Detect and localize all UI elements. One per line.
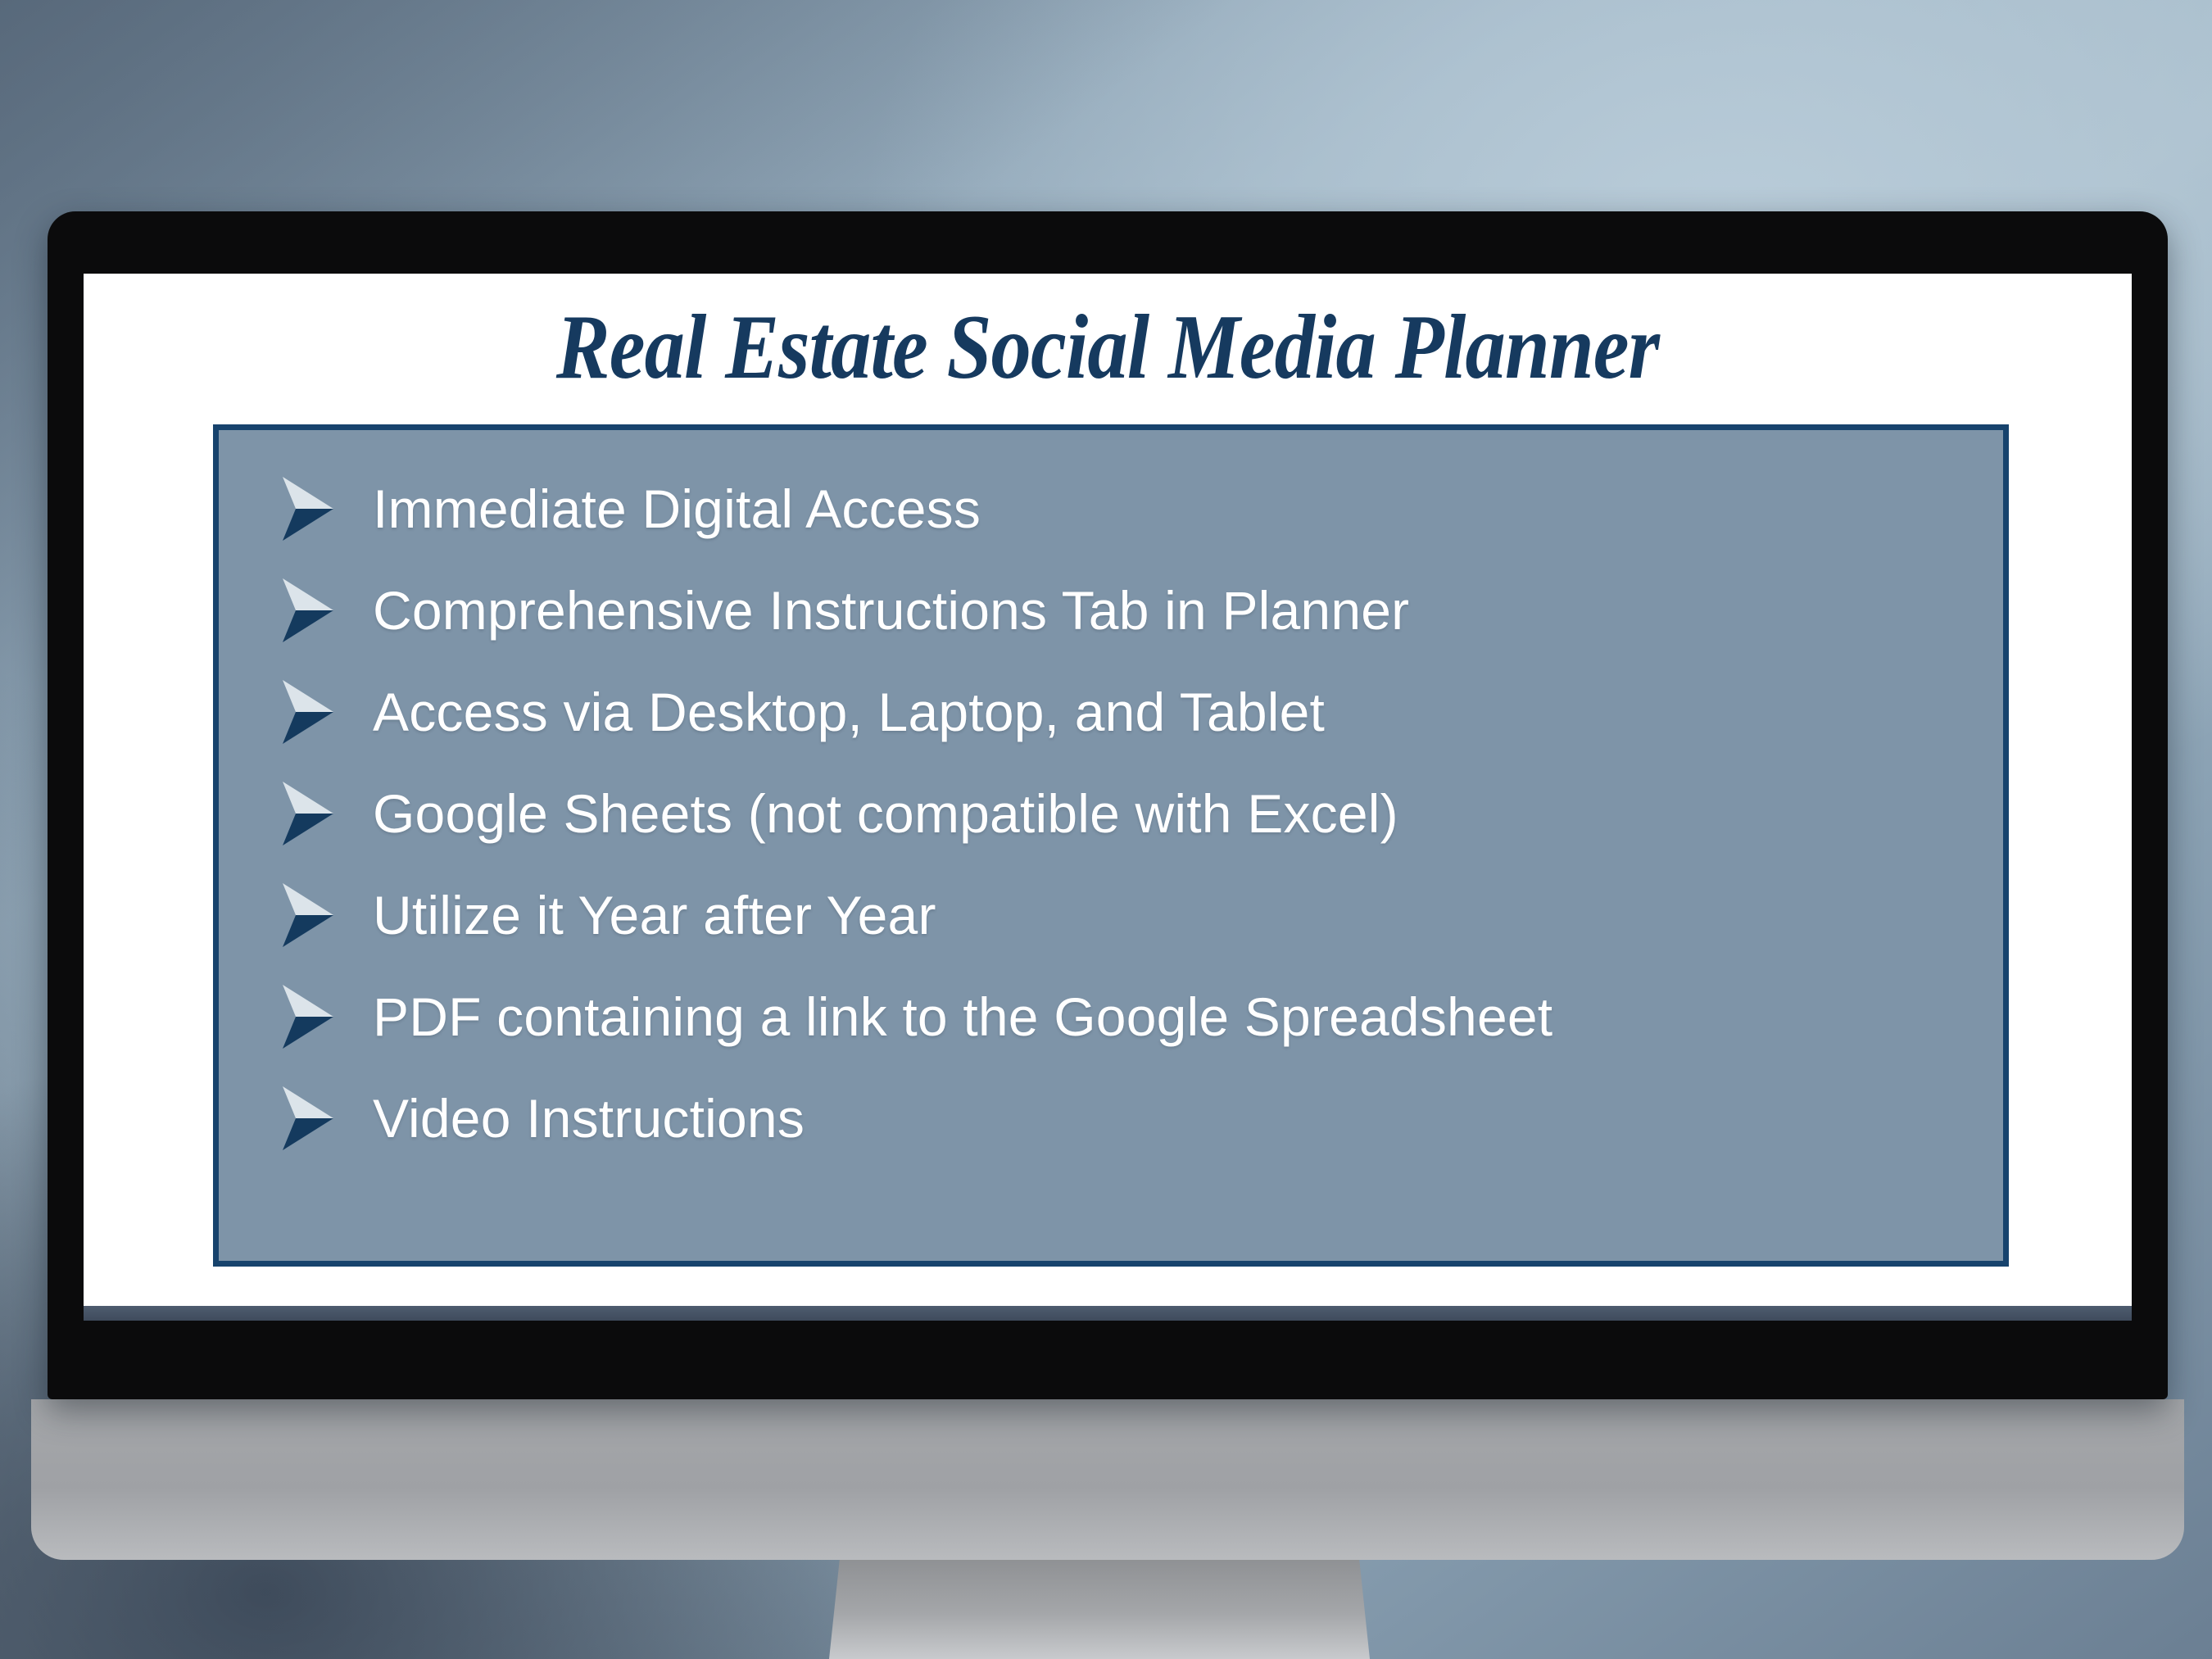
list-item: Video Instructions (219, 1067, 2003, 1169)
list-item-label: Immediate Digital Access (373, 482, 981, 536)
arrow-bullet-icon (278, 575, 338, 646)
list-item-label: PDF containing a link to the Google Spre… (373, 990, 1552, 1044)
monitor-bezel: Real Estate Social Media Planner Immedia… (48, 211, 2168, 1399)
feature-panel: Immediate Digital Access Comprehensive I… (213, 424, 2009, 1267)
feature-list: Immediate Digital Access Comprehensive I… (219, 430, 2003, 1169)
list-item: Comprehensive Instructions Tab in Planne… (219, 560, 2003, 661)
list-item: Utilize it Year after Year (219, 864, 2003, 966)
slide-backdrop: Real Estate Social Media Planner Immedia… (0, 0, 2212, 1659)
screen-glass-strip (84, 1306, 2132, 1321)
arrow-bullet-icon (278, 880, 338, 950)
arrow-bullet-icon (278, 981, 338, 1052)
page-title: Real Estate Social Media Planner (206, 295, 2009, 401)
monitor-base (31, 1399, 2184, 1560)
list-item: PDF containing a link to the Google Spre… (219, 966, 2003, 1067)
list-item-label: Google Sheets (not compatible with Excel… (373, 786, 1398, 841)
list-item-label: Comprehensive Instructions Tab in Planne… (373, 583, 1409, 637)
arrow-bullet-icon (278, 778, 338, 849)
arrow-bullet-icon (278, 677, 338, 747)
list-item-label: Utilize it Year after Year (373, 888, 936, 942)
list-item: Google Sheets (not compatible with Excel… (219, 763, 2003, 864)
monitor-stand-neck (829, 1557, 1370, 1659)
monitor-screen: Real Estate Social Media Planner Immedia… (84, 274, 2132, 1306)
list-item-label: Video Instructions (373, 1091, 805, 1145)
arrow-bullet-icon (278, 474, 338, 544)
arrow-bullet-icon (278, 1083, 338, 1154)
list-item: Access via Desktop, Laptop, and Tablet (219, 661, 2003, 763)
list-item-label: Access via Desktop, Laptop, and Tablet (373, 685, 1325, 739)
list-item: Immediate Digital Access (219, 458, 2003, 560)
